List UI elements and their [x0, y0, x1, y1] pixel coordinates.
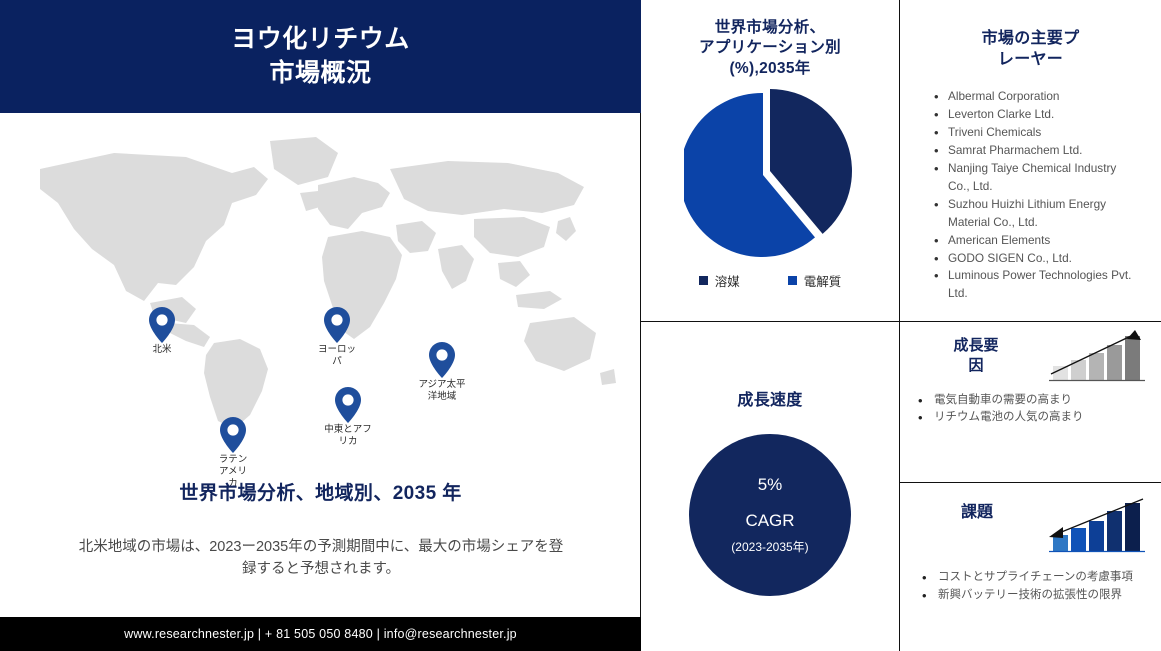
list-item: Suzhou Huizhi Lithium Energy Material Co…	[934, 196, 1139, 232]
bar	[1125, 336, 1140, 380]
legend-label: 電解質	[804, 271, 842, 290]
list-item: GODO SIGEN Co., Ltd.	[934, 250, 1139, 268]
map-caption-body: 北米地域の市場は、2023ー2035年の予測期間中に、最大の市場シェアを登録する…	[78, 536, 564, 581]
page-title-line-2: 市場概況	[231, 57, 410, 91]
bar	[1053, 366, 1068, 380]
location-pin-icon	[324, 307, 350, 343]
list-item: Luminous Power Technologies Pvt. Ltd.	[934, 267, 1139, 303]
growth-drivers-title-line-1: 成長要	[916, 336, 1036, 356]
list-item: Nanjing Taiye Chemical Industry Co., Ltd…	[934, 160, 1139, 196]
list-item: Leverton Clarke Ltd.	[934, 106, 1139, 124]
growth-trend-bar-chart	[1047, 328, 1147, 386]
growth-drivers-header: 成長要 因	[900, 322, 1161, 390]
location-pin-icon	[149, 307, 175, 343]
infographic-page: ヨウ化リチウム 市場概況	[0, 0, 1161, 651]
legend-swatch-icon	[788, 276, 797, 285]
location-pin-icon	[335, 387, 361, 423]
left-column: ヨウ化リチウム 市場概況	[0, 0, 641, 651]
map-pin-label: ヨーロッ パ	[293, 344, 381, 368]
world-map-section: 北米 ヨーロッ パ アジア太平 洋地域	[0, 113, 641, 473]
growth-drivers-title: 成長要 因	[916, 336, 1036, 375]
growth-drivers-panel: 成長要 因 電気自動車の需要の高まり リチウム電池の人気の高まり	[900, 322, 1161, 483]
bar	[1107, 345, 1122, 380]
challenges-panel: 課題 コストとサプライチェーンの考慮事項 新興バッテリー技術の拡張性の限界	[900, 483, 1161, 651]
list-item: リチウム電池の人気の高まり	[918, 409, 1136, 426]
map-pin-label: 中東とアフ リカ	[304, 424, 392, 448]
bar	[1089, 353, 1104, 380]
growth-drivers-list: 電気自動車の需要の高まり リチウム電池の人気の高まり	[918, 392, 1161, 427]
list-item: Triveni Chemicals	[934, 124, 1139, 142]
pie-title-line-3: (%),2035年	[655, 59, 885, 79]
challenges-header: 課題	[900, 483, 1161, 561]
legend-item-solvent[interactable]: 溶媒	[699, 271, 740, 290]
location-pin-icon	[220, 417, 246, 453]
pie-title-line-1: 世界市場分析、	[655, 18, 885, 38]
header-banner: ヨウ化リチウム 市場概況	[0, 0, 641, 113]
challenges-list: コストとサプライチェーンの考慮事項 新興バッテリー技術の拡張性の限界	[922, 569, 1161, 605]
list-item: Samrat Pharmachem Ltd.	[934, 142, 1139, 160]
list-item: 電気自動車の需要の高まり	[918, 392, 1136, 409]
footer-contact-text: www.researchnester.jp | + 81 505 050 848…	[124, 627, 517, 641]
key-players-title-line-1: 市場の主要プ	[930, 28, 1131, 49]
world-map-illustration	[18, 133, 624, 433]
key-players-panel: 市場の主要プ レーヤー Albermal Corporation Leverto…	[900, 0, 1161, 322]
pie-legend: 溶媒 電解質	[641, 271, 899, 290]
growth-rate-panel: 成長速度 5% CAGR (2023-2035年)	[641, 322, 900, 651]
legend-swatch-icon	[699, 276, 708, 285]
pie-panel-title: 世界市場分析、 アプリケーション別 (%),2035年	[641, 0, 899, 79]
list-item: American Elements	[934, 232, 1139, 250]
bar	[1089, 521, 1104, 551]
page-title-line-1: ヨウ化リチウム	[231, 23, 410, 57]
key-players-title-line-2: レーヤー	[930, 49, 1131, 70]
pie-chart-area	[641, 85, 899, 261]
list-item: Albermal Corporation	[934, 88, 1139, 106]
list-item: 新興バッテリー技術の拡張性の限界	[922, 587, 1140, 605]
footer-bar: www.researchnester.jp | + 81 505 050 848…	[0, 617, 641, 651]
map-pin-label: アジア太平 洋地域	[398, 379, 486, 403]
bar	[1071, 528, 1086, 551]
challenges-bar-chart	[1047, 497, 1147, 557]
cagr-label: CAGR	[745, 511, 794, 531]
growth-rate-title: 成長速度	[641, 322, 899, 411]
cagr-years: (2023-2035年)	[731, 538, 808, 555]
key-players-list: Albermal Corporation Leverton Clarke Ltd…	[934, 88, 1161, 303]
page-title: ヨウ化リチウム 市場概況	[231, 23, 410, 90]
challenges-title: 課題	[912, 503, 1042, 524]
pie-title-line-2: アプリケーション別	[655, 38, 885, 58]
key-players-title: 市場の主要プ レーヤー	[900, 0, 1161, 70]
application-share-pie-chart	[684, 85, 856, 257]
bar	[1107, 511, 1122, 551]
up-arrow-icon	[1127, 330, 1141, 340]
list-item: コストとサプライチェーンの考慮事項	[922, 569, 1140, 587]
legend-item-electrolyte[interactable]: 電解質	[788, 271, 842, 290]
location-pin-icon	[429, 342, 455, 378]
map-caption-title: 世界市場分析、地域別、2035 年	[0, 478, 641, 505]
cagr-circle: 5% CAGR (2023-2035年)	[689, 434, 851, 596]
legend-label: 溶媒	[715, 271, 740, 290]
bar	[1125, 503, 1140, 551]
map-pin-label: 北米	[118, 344, 206, 356]
pie-chart-panel: 世界市場分析、 アプリケーション別 (%),2035年 溶媒 電解質	[641, 0, 900, 322]
growth-drivers-title-line-2: 因	[916, 356, 1036, 376]
down-arrow-icon	[1049, 527, 1063, 538]
cagr-percent: 5%	[758, 475, 783, 495]
